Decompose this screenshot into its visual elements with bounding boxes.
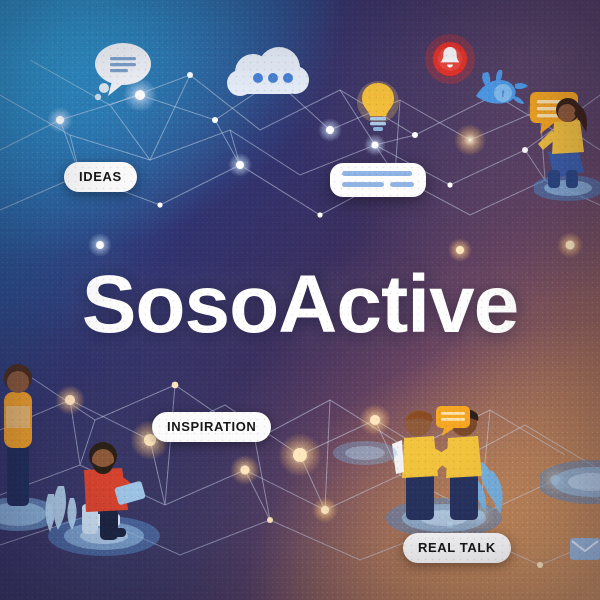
noise-overlay-dark (0, 0, 600, 600)
hero-banner: f (0, 0, 600, 600)
